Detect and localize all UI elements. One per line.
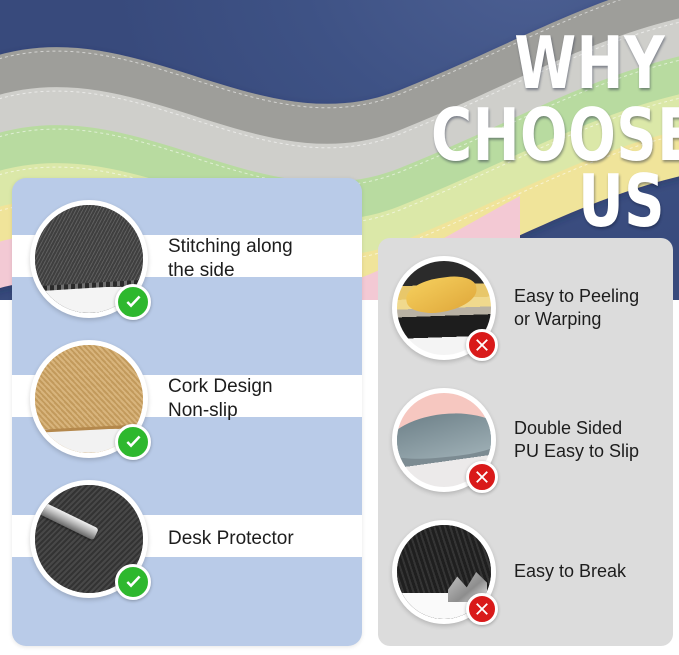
pros-label-1: Stitching along the side [168, 235, 293, 284]
cons-label-1: Easy to Peeling or Warping [514, 285, 639, 331]
thumb-wrap [392, 520, 496, 624]
thumb-wrap [392, 256, 496, 360]
cons-label-3: Easy to Break [514, 560, 626, 583]
cross-icon [466, 593, 498, 625]
cons-label-2: Double Sided PU Easy to Slip [514, 417, 639, 463]
check-icon [115, 424, 151, 460]
cross-icon [466, 461, 498, 493]
cross-icon [466, 329, 498, 361]
headline-line-1: WHY [431, 30, 665, 96]
pros-row-2: Cork Design Non-slip [30, 340, 273, 458]
infographic-root: WHY CHOOSE US Easy to Peeling or Warping [0, 0, 679, 655]
cons-row-3: Easy to Break [392, 520, 626, 624]
thumb-wrap [392, 388, 496, 492]
pros-label-3: Desk Protector [168, 527, 294, 551]
check-icon [115, 284, 151, 320]
cons-row-1: Easy to Peeling or Warping [392, 256, 639, 360]
pros-label-2: Cork Design Non-slip [168, 375, 273, 424]
headline-line-2: CHOOSE US [431, 102, 665, 234]
thumb-wrap [30, 340, 148, 458]
pros-row-3: Desk Protector [30, 480, 294, 598]
cons-panel: Easy to Peeling or Warping Double Sided … [378, 238, 673, 646]
pros-panel: Stitching along the side Cork Design Non… [12, 178, 362, 646]
headline: WHY CHOOSE US [365, 30, 665, 235]
cons-row-2: Double Sided PU Easy to Slip [392, 388, 639, 492]
pros-row-1: Stitching along the side [30, 200, 293, 318]
thumb-wrap [30, 200, 148, 318]
check-icon [115, 564, 151, 600]
thumb-wrap [30, 480, 148, 598]
